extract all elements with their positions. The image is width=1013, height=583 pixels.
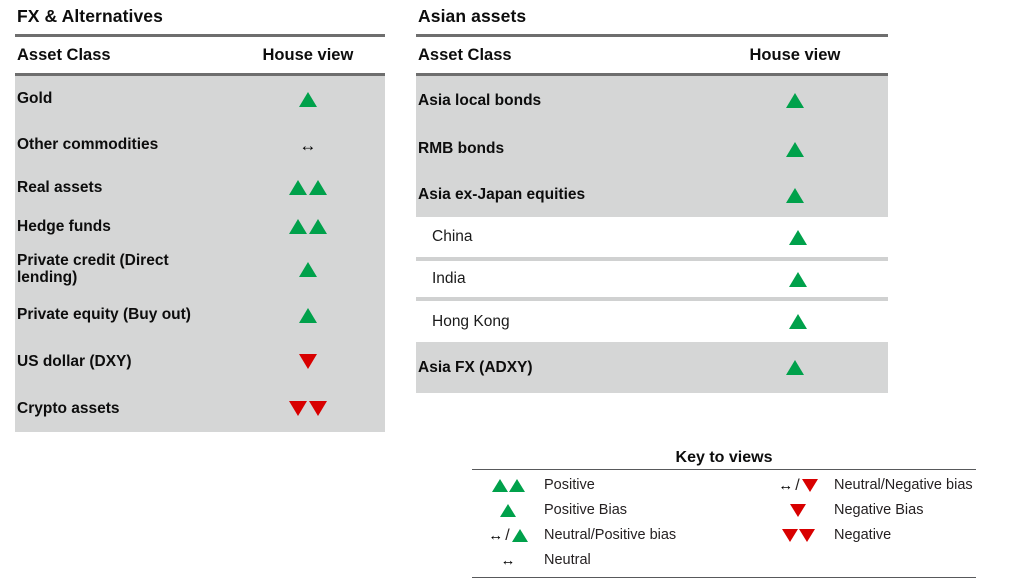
triangle-up-icon [786,142,804,157]
fx-table-body: GoldOther commodities↔Real assetsHedge f… [15,76,385,432]
asset-class-label: India [416,270,707,287]
legend-label: Positive [544,473,762,498]
column-header-house-view: House view [231,46,385,65]
table-row[interactable]: Private equity (Buy out) [15,292,385,338]
triangle-down-icon [802,479,818,492]
triangle-up-icon [289,180,307,195]
panel-title-asia: Asian assets [416,6,888,34]
triangle-up-icon [789,272,807,287]
neutral-arrow-icon: ↔ [778,478,793,493]
legend-title: Key to views [472,449,976,469]
house-view-marker-negative-bias [231,354,385,369]
house-view-marker-positive-bias [231,308,385,323]
legend-symbol-neutral-slash-up: ↔/ [472,523,544,548]
triangle-down-icon [299,354,317,369]
legend-symbol-up [472,498,544,523]
triangle-up-icon [299,262,317,277]
column-header-asset-class: Asset Class [15,46,231,65]
house-view-marker-positive-bias [702,360,888,375]
neutral-arrow-icon: ↔ [501,553,516,568]
triangle-up-icon [789,314,807,329]
table-row[interactable]: Crypto assets [15,385,385,432]
house-view-marker-negative [231,401,385,416]
asset-class-label: China [416,228,707,245]
triangle-up-icon [299,92,317,107]
asian-assets-panel: Asian assets Asset Class House view Asia… [416,6,888,393]
column-header-house-view: House view [702,46,888,65]
asset-class-label: Crypto assets [15,400,231,417]
house-view-marker-positive-bias [707,272,888,287]
table-row[interactable]: Private credit (Direct lending) [15,246,385,292]
table-row[interactable]: India [416,257,888,297]
house-view-marker-neutral: ↔ [231,137,385,154]
table-row[interactable]: China [416,217,888,257]
legend-label: Positive Bias [544,498,762,523]
triangle-up-icon [509,479,525,492]
asset-class-label: Other commodities [15,136,231,153]
house-view-marker-positive-bias [702,188,888,203]
asset-class-label: Asia ex-Japan equities [416,186,702,203]
table-row[interactable]: Asia ex-Japan equities [416,173,888,217]
legend-label: Neutral/Negative bias [834,473,976,498]
table-row[interactable]: RMB bonds [416,125,888,173]
table-row[interactable]: Hong Kong [416,297,888,342]
triangle-up-icon [512,529,528,542]
triangle-down-icon [782,529,798,542]
asset-class-label: Private credit (Direct lending) [15,252,231,287]
asset-class-label: Gold [15,90,231,107]
table-row[interactable]: Gold [15,76,385,122]
triangle-up-icon [500,504,516,517]
slash-separator: / [504,528,510,544]
legend-box: Positive↔/Neutral/Negative biasPositive … [472,469,976,578]
asia-table-body: Asia local bondsRMB bondsAsia ex-Japan e… [416,76,888,393]
legend-label: Negative [834,523,976,548]
triangle-up-icon [786,360,804,375]
triangle-up-icon [786,188,804,203]
asset-class-label: Asia local bonds [416,92,702,109]
table-row[interactable]: Asia FX (ADXY) [416,342,888,393]
asset-class-label: Private equity (Buy out) [15,306,231,323]
asset-class-label: Asia FX (ADXY) [416,359,702,376]
table-row[interactable]: Other commodities↔ [15,122,385,168]
legend-symbol-neutral-slash-down: ↔/ [762,473,834,498]
house-view-marker-positive-bias [707,314,888,329]
table-row[interactable]: US dollar (DXY) [15,338,385,385]
table-row[interactable]: Hedge funds [15,207,385,246]
table-row[interactable]: Real assets [15,168,385,207]
column-header-row-fx: Asset Class House view [15,37,385,73]
house-view-marker-positive-bias [231,92,385,107]
column-header-asset-class: Asset Class [416,46,702,65]
triangle-up-icon [789,230,807,245]
house-view-marker-positive [231,180,385,195]
triangle-up-icon [309,219,327,234]
triangle-up-icon [309,180,327,195]
legend-symbol-down [762,498,834,523]
legend-symbol-down-down [762,523,834,548]
asset-class-label: Real assets [15,179,231,196]
house-view-marker-positive-bias [702,142,888,157]
slash-separator: / [794,478,800,494]
legend-label: Neutral/Positive bias [544,523,762,548]
house-view-marker-positive-bias [707,230,888,245]
legend-label: Neutral [544,548,762,573]
triangle-down-icon [799,529,815,542]
legend-symbol-neutral: ↔ [472,548,544,573]
triangle-up-icon [299,308,317,323]
legend-symbol-up-up [472,473,544,498]
triangle-down-icon [790,504,806,517]
asset-class-label: Hong Kong [416,313,707,330]
neutral-arrow-icon: ↔ [299,137,316,154]
key-to-views: Key to views Positive↔/Neutral/Negative … [472,449,976,578]
legend-label: Negative Bias [834,498,976,523]
triangle-up-icon [289,219,307,234]
table-row[interactable]: Asia local bonds [416,76,888,125]
asset-class-label: Hedge funds [15,218,231,235]
house-view-marker-positive-bias [231,262,385,277]
triangle-down-icon [289,401,307,416]
triangle-up-icon [786,93,804,108]
neutral-arrow-icon: ↔ [488,528,503,543]
house-view-marker-positive-bias [702,93,888,108]
triangle-up-icon [492,479,508,492]
column-header-row-asia: Asset Class House view [416,37,888,73]
asset-class-label: RMB bonds [416,140,702,157]
legend-grid: Positive↔/Neutral/Negative biasPositive … [472,473,976,573]
panel-title-fx: FX & Alternatives [15,6,385,34]
fx-alternatives-panel: FX & Alternatives Asset Class House view… [15,6,385,432]
house-view-marker-positive [231,219,385,234]
triangle-down-icon [309,401,327,416]
asset-class-label: US dollar (DXY) [15,353,231,370]
